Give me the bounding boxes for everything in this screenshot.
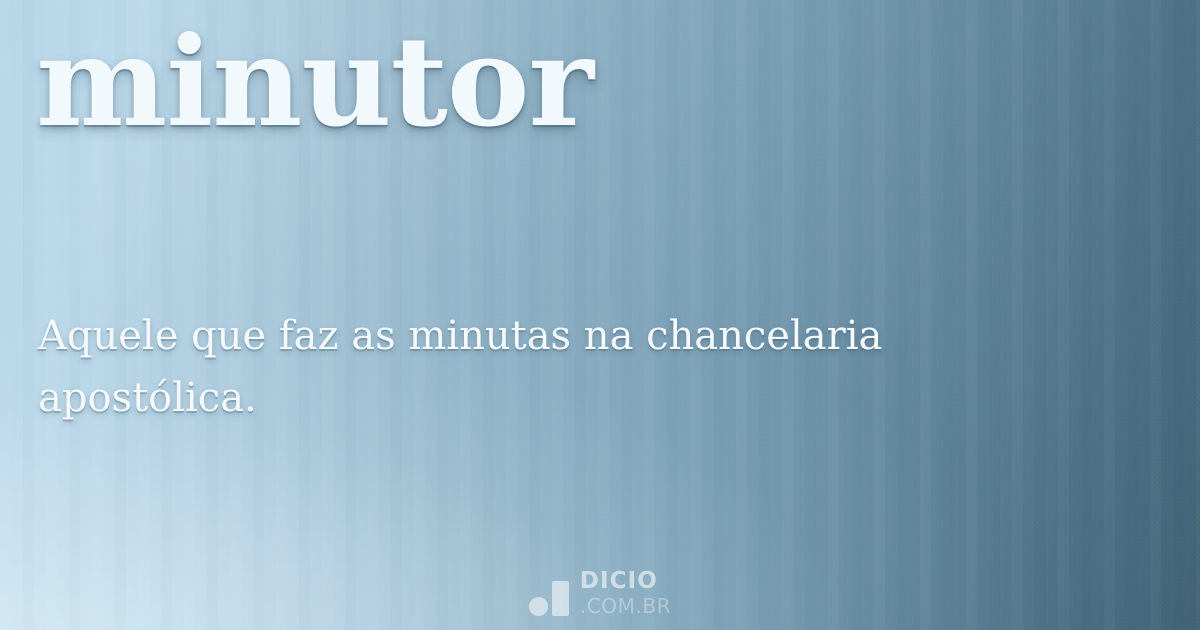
dicio-logo-tld: .COM.BR <box>580 596 672 616</box>
definition-card: minutor Aquele que faz as minutas na cha… <box>0 0 1200 630</box>
rounded-bar-mark-icon <box>552 581 569 616</box>
dicio-logo-name: DICIO <box>580 570 672 593</box>
dicio-logo-text: DICIO .COM.BR <box>580 570 672 616</box>
definition-text: Aquele que faz as minutas na chancelaria… <box>38 305 1038 429</box>
card-content: minutor Aquele que faz as minutas na cha… <box>0 0 1200 630</box>
headword-title: minutor <box>36 18 593 148</box>
circle-mark-icon <box>529 597 548 616</box>
dicio-logo-mark <box>529 578 569 616</box>
dicio-logo: DICIO .COM.BR <box>0 570 1200 616</box>
